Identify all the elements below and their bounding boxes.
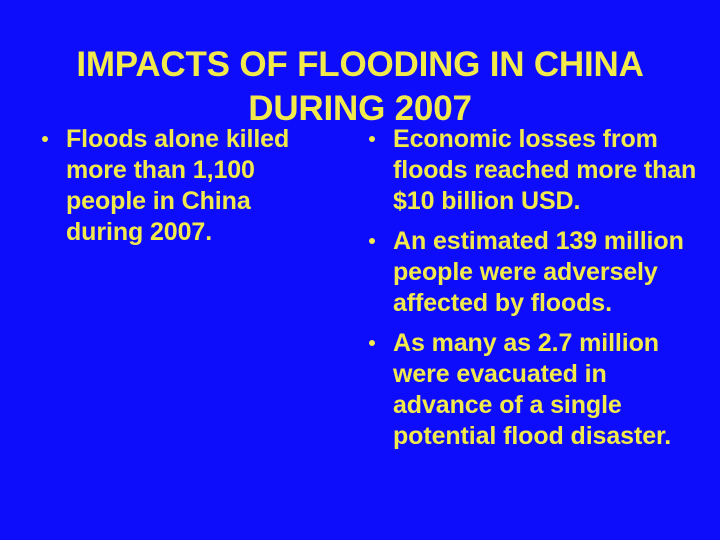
bullet-dot-icon (369, 340, 375, 346)
left-column-bullet-list: Floods alone killed more than 1,100 peop… (36, 124, 333, 248)
page-title: IMPACTS OF FLOODING IN CHINA DURING 2007 (14, 43, 706, 131)
list-item-label: As many as 2.7 million were evacuated in… (393, 328, 702, 452)
presentation-slide: IMPACTS OF FLOODING IN CHINA DURING 2007… (0, 0, 720, 540)
list-item-label: Economic losses from floods reached more… (393, 124, 702, 217)
bullet-dot-icon (369, 238, 375, 244)
left-column: Floods alone killed more than 1,100 peop… (0, 124, 355, 248)
list-item-label: Floods alone killed more than 1,100 peop… (66, 124, 333, 248)
list-item-label: An estimated 139 million people were adv… (393, 226, 702, 319)
list-item: Floods alone killed more than 1,100 peop… (36, 124, 333, 248)
bullet-dot-icon (42, 136, 48, 142)
slide-body: Floods alone killed more than 1,100 peop… (0, 124, 720, 524)
right-column-bullet-list: Economic losses from floods reached more… (363, 124, 702, 452)
list-item: An estimated 139 million people were adv… (363, 226, 702, 319)
list-item: As many as 2.7 million were evacuated in… (363, 328, 702, 452)
list-item: Economic losses from floods reached more… (363, 124, 702, 217)
bullet-dot-icon (369, 136, 375, 142)
right-column: Economic losses from floods reached more… (355, 124, 720, 452)
